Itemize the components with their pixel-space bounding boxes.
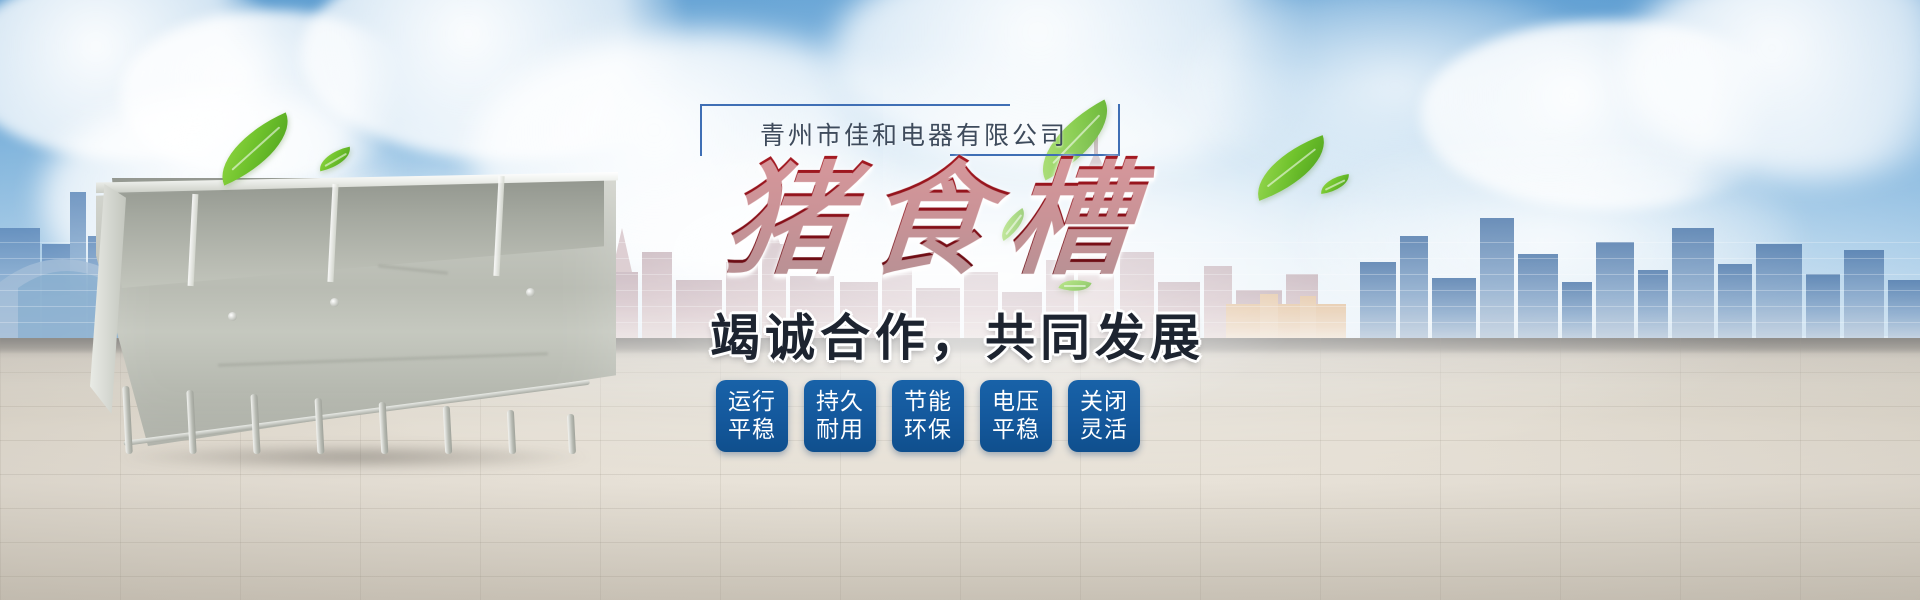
- feature-badge[interactable]: 关闭 灵活: [1068, 380, 1140, 452]
- promo-banner: 青州市佳和电器有限公司 猪食槽 竭诚合作，共同发展 运行 平稳 持久 耐用 节能…: [0, 0, 1920, 600]
- trough-bar: [443, 406, 453, 454]
- feature-badge-line2: 环保: [904, 416, 952, 444]
- feature-badge-line2: 耐用: [816, 416, 864, 444]
- trough-feed-bars: [124, 380, 594, 454]
- feature-badge-line2: 平稳: [728, 416, 776, 444]
- feed-trough-product-image: [78, 160, 638, 460]
- feature-badge[interactable]: 电压 平稳: [980, 380, 1052, 452]
- feature-badge-line1: 关闭: [1080, 388, 1128, 416]
- banner-copy: 青州市佳和电器有限公司 猪食槽 竭诚合作，共同发展 运行 平稳 持久 耐用 节能…: [700, 96, 1460, 536]
- trough-bar: [250, 394, 260, 454]
- feature-badge[interactable]: 运行 平稳: [716, 380, 788, 452]
- feature-badge-line2: 平稳: [992, 416, 1040, 444]
- feature-badge-line1: 持久: [816, 388, 864, 416]
- trough-bar: [567, 414, 576, 454]
- feature-badge-line1: 运行: [728, 388, 776, 416]
- page-title: 猪食槽: [718, 154, 1156, 285]
- trough-bar: [186, 390, 196, 454]
- feature-badge[interactable]: 持久 耐用: [804, 380, 876, 452]
- trough-rivet: [228, 312, 237, 321]
- slogan: 竭诚合作，共同发展: [710, 298, 1205, 370]
- feature-badge-line1: 电压: [992, 388, 1040, 416]
- feature-badge-list: 运行 平稳 持久 耐用 节能 环保 电压 平稳 关闭 灵活: [716, 380, 1140, 452]
- trough-rivet: [526, 288, 535, 297]
- trough-bar: [315, 398, 325, 454]
- feature-badge[interactable]: 节能 环保: [892, 380, 964, 452]
- feature-badge-line2: 灵活: [1080, 416, 1128, 444]
- feature-badge-line1: 节能: [904, 388, 952, 416]
- trough-rivet: [330, 298, 339, 307]
- trough-bar: [507, 410, 516, 454]
